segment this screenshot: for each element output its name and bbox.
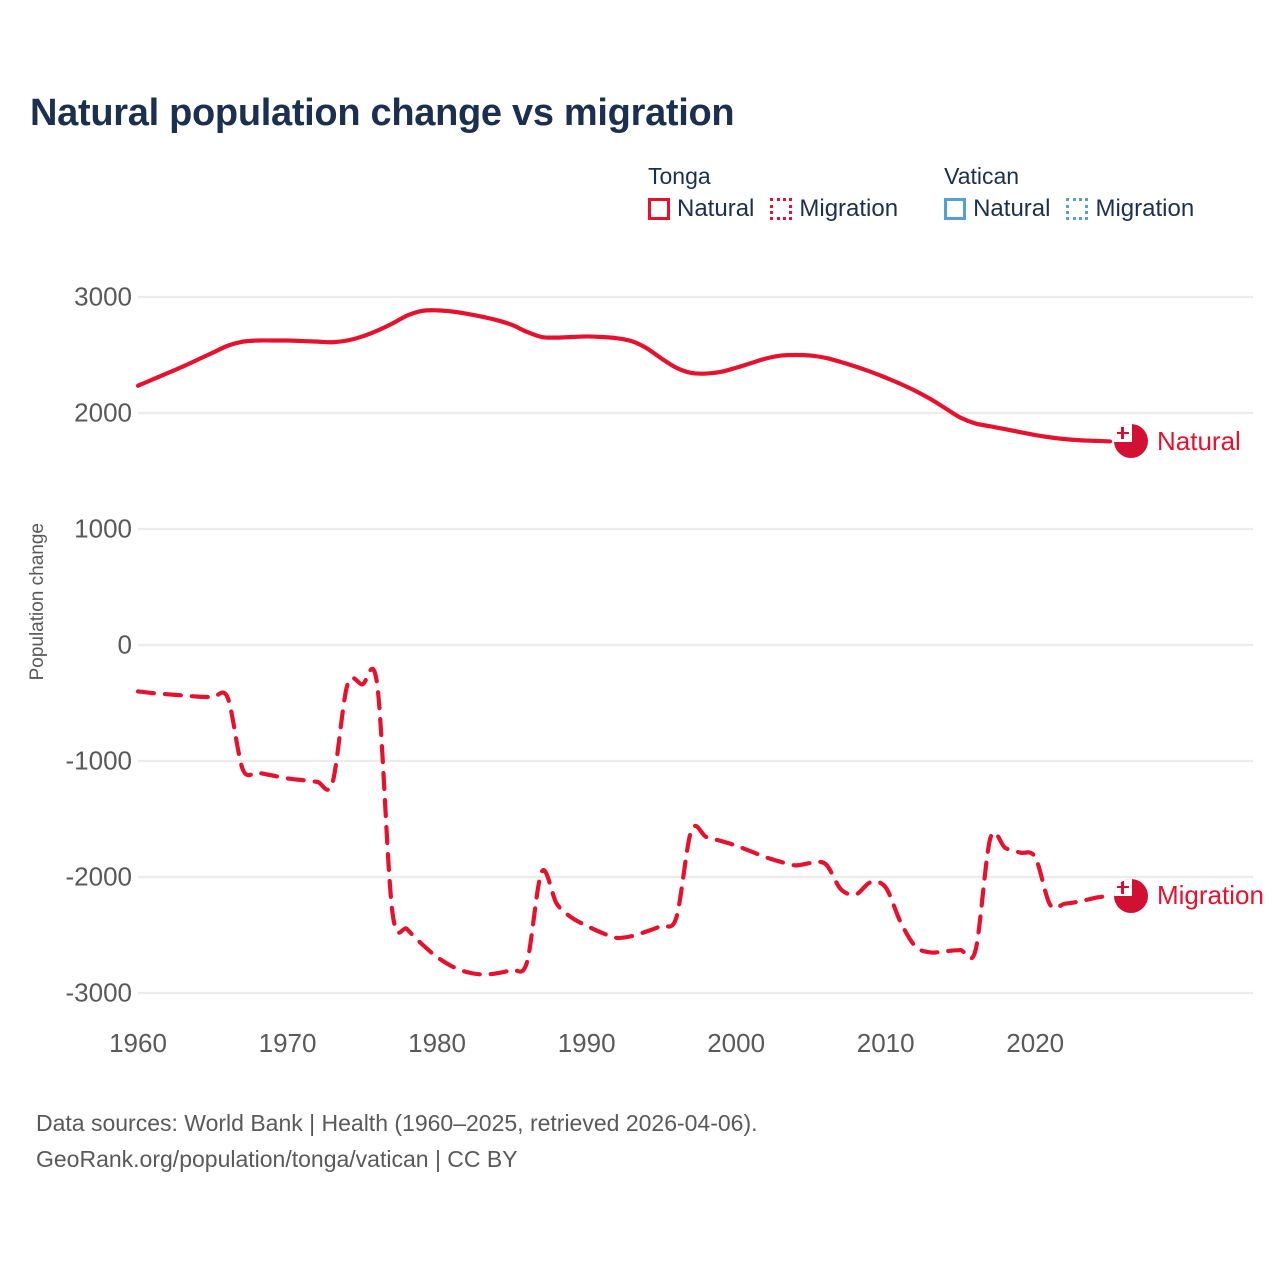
y-tick-label: -3000 <box>66 978 133 1009</box>
y-tick-label: 2000 <box>74 398 132 429</box>
y-tick-label: 1000 <box>74 514 132 545</box>
legend-item-label: Migration <box>1095 195 1194 223</box>
legend-item-tonga-migration[interactable]: Migration <box>770 195 898 223</box>
legend-group-vatican: Vatican Natural Migration <box>944 162 1194 223</box>
y-tick-label: -2000 <box>66 862 133 893</box>
chart-legend: Tonga Natural Migration Vatican Natural <box>648 162 1194 223</box>
footer-attribution: Data sources: World Bank | Health (1960–… <box>36 1106 758 1177</box>
legend-item-vatican-natural[interactable]: Natural <box>944 195 1050 223</box>
tonga-flag-icon <box>1114 879 1148 913</box>
legend-item-vatican-migration[interactable]: Migration <box>1066 195 1194 223</box>
y-tick-label: 3000 <box>74 282 132 313</box>
x-tick-label: 1990 <box>558 1028 616 1059</box>
legend-country-label: Tonga <box>648 162 898 191</box>
dotted-line-swatch-icon <box>1066 198 1088 220</box>
legend-item-label: Natural <box>677 195 754 223</box>
y-tick-label: -1000 <box>66 746 133 777</box>
legend-item-label: Natural <box>973 195 1050 223</box>
x-tick-label: 1970 <box>259 1028 317 1059</box>
legend-item-label: Migration <box>799 195 898 223</box>
x-tick-label: 1980 <box>408 1028 466 1059</box>
x-tick-label: 2020 <box>1006 1028 1064 1059</box>
series-line-migration <box>138 669 1110 975</box>
x-tick-label: 1960 <box>109 1028 167 1059</box>
chart-container: Natural population change vs migration T… <box>0 0 1280 1280</box>
legend-item-tonga-natural[interactable]: Natural <box>648 195 754 223</box>
legend-keys: Natural Migration <box>944 195 1194 223</box>
solid-line-swatch-icon <box>944 198 966 220</box>
series-end-label-text: Natural <box>1157 426 1241 457</box>
footer-line-link[interactable]: GeoRank.org/population/tonga/vatican | C… <box>36 1142 758 1178</box>
x-tick-label: 2000 <box>707 1028 765 1059</box>
tonga-flag-icon <box>1114 424 1148 458</box>
series-end-label: Natural <box>1114 424 1241 458</box>
dotted-line-swatch-icon <box>770 198 792 220</box>
legend-keys: Natural Migration <box>648 195 898 223</box>
legend-country-label: Vatican <box>944 162 1194 191</box>
series-line-natural <box>138 310 1110 441</box>
page-title: Natural population change vs migration <box>30 92 734 135</box>
series-end-label: Migration <box>1114 879 1264 913</box>
series-end-label-text: Migration <box>1157 880 1264 911</box>
y-tick-label: 0 <box>118 630 132 661</box>
solid-line-swatch-icon <box>648 198 670 220</box>
x-tick-label: 2010 <box>857 1028 915 1059</box>
y-axis-title: Population change <box>27 523 53 680</box>
footer-line-sources: Data sources: World Bank | Health (1960–… <box>36 1106 758 1142</box>
legend-group-tonga: Tonga Natural Migration <box>648 162 898 223</box>
